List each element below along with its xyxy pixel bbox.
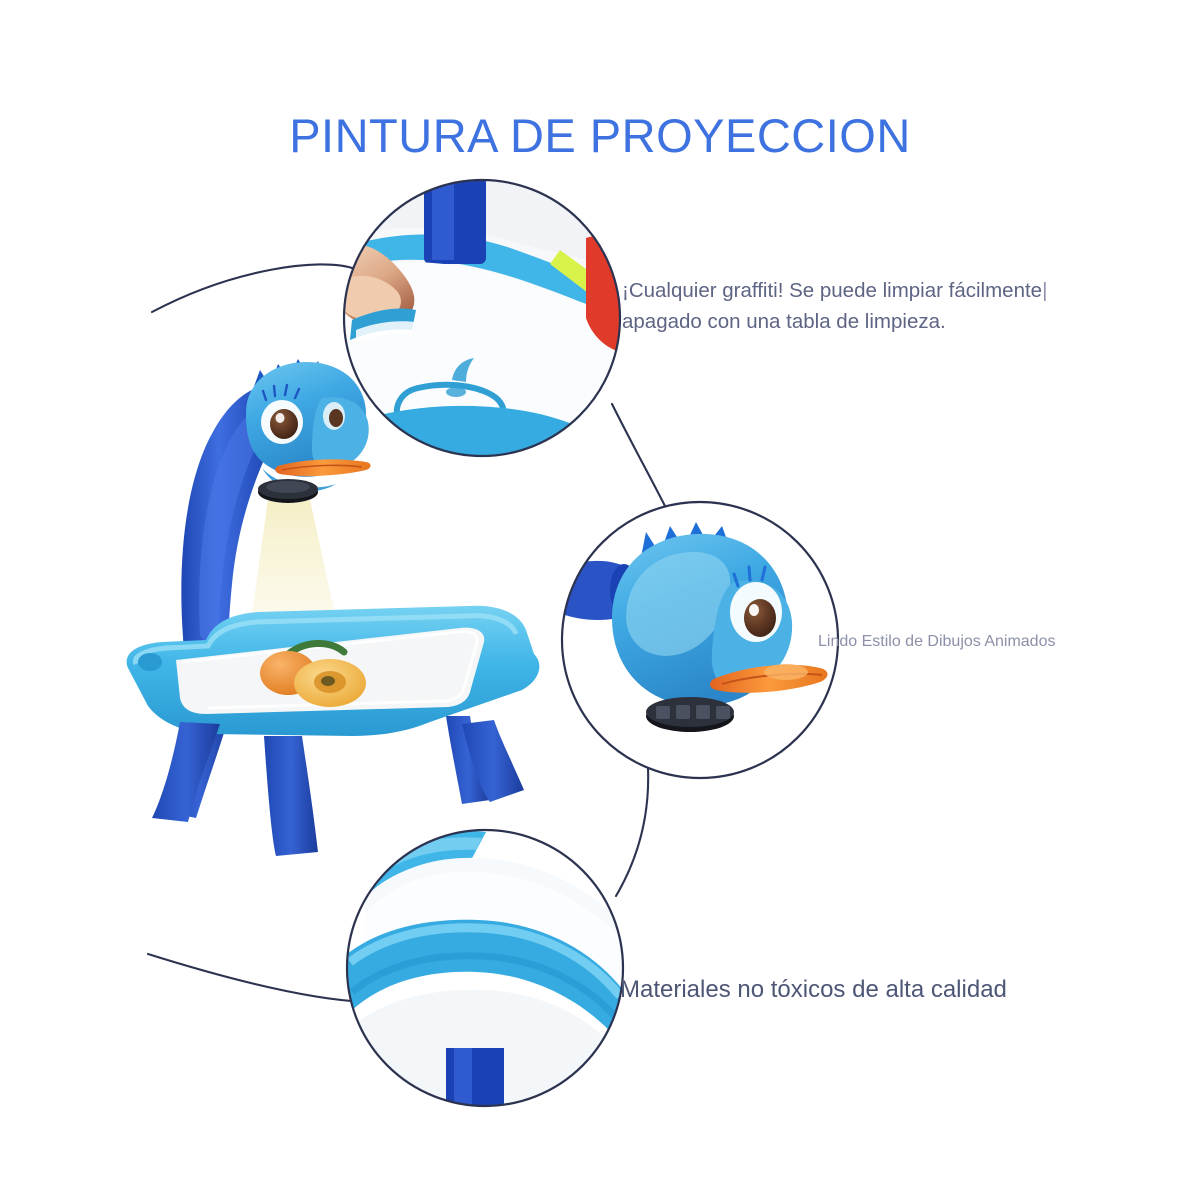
fruit-seed <box>321 676 335 686</box>
dinosaur-head <box>246 359 371 492</box>
callout-text-wipe-clean: ¡Cualquier graffiti! Se puede limpiar fá… <box>622 277 1047 336</box>
callout-text-materials: Materiales no tóxicos de alta calidad <box>620 974 1007 1006</box>
product-infographic: PINTURA DE PROYECCION <box>0 0 1200 1200</box>
dinosaur-eye-far-iris <box>329 409 343 427</box>
callout-circle-materials <box>347 830 623 1106</box>
product-illustration <box>0 0 1200 1200</box>
projection-beam <box>250 500 338 628</box>
table-side-knob <box>138 653 162 671</box>
callout-circle-cartoon-style <box>562 502 838 778</box>
table-leg-front-center <box>264 736 318 856</box>
dinosaur-eye-glint <box>276 413 285 423</box>
callout-line-2: apagado con una tabla de limpieza. <box>622 308 1047 335</box>
callout-trailing-mark: | <box>1042 279 1047 302</box>
callout-line-1: ¡Cualquier graffiti! Se puede limpiar fá… <box>622 279 1042 302</box>
callout-text-cartoon-style: Lindo Estilo de Dibujos Animados <box>818 631 1055 652</box>
projector-lens-glint <box>266 481 310 493</box>
dinosaur-eye-iris <box>270 409 298 439</box>
callout-circle-wipe-clean <box>336 172 620 456</box>
